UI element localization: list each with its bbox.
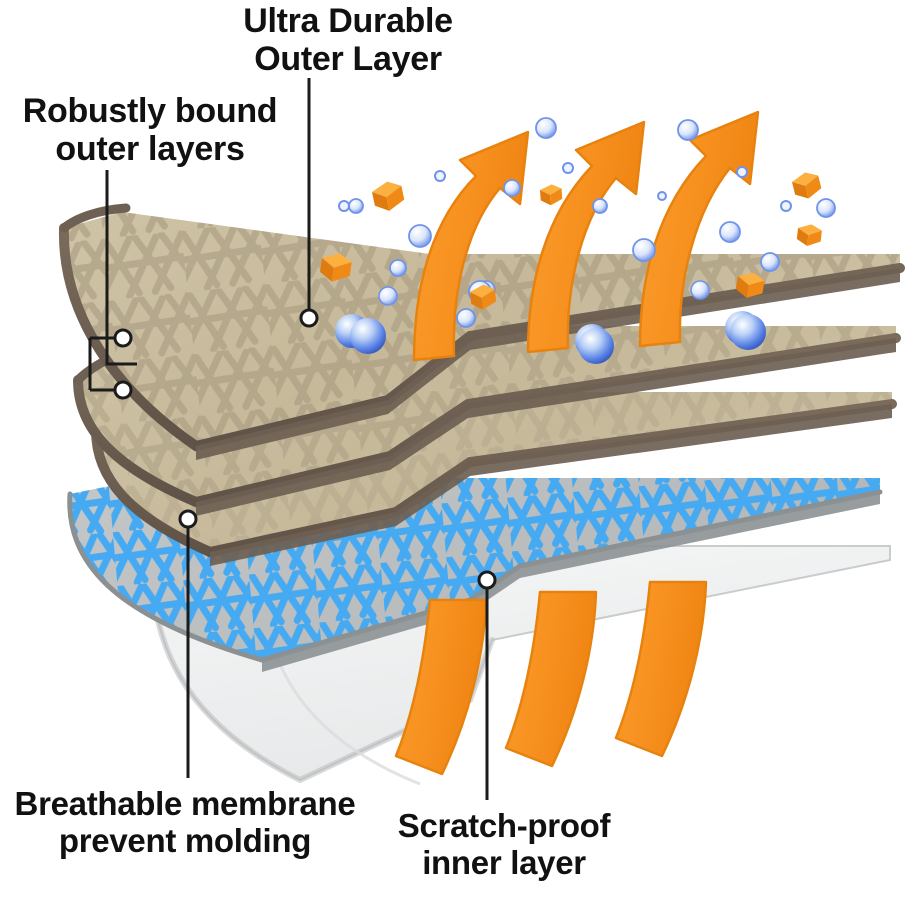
label-ultra-durable-outer-layer: Ultra Durable Outer Layer <box>203 2 493 78</box>
callout-dot-membrane <box>180 511 196 527</box>
callout-dot-bound-2 <box>115 382 131 398</box>
label-robustly-bound-outer-layers: Robustly bound outer layers <box>2 92 298 168</box>
label-breathable-membrane: Breathable membrane prevent molding <box>0 786 370 860</box>
diagram-canvas: Ultra Durable Outer Layer Robustly bound… <box>0 0 916 902</box>
callout-dot-inner <box>479 572 495 588</box>
label-scratch-proof-inner-layer: Scratch-proof inner layer <box>368 808 640 882</box>
callout-dot-outer-top <box>301 310 317 326</box>
airflow-arrows-lower <box>396 582 706 774</box>
callout-dot-bound-1 <box>115 330 131 346</box>
